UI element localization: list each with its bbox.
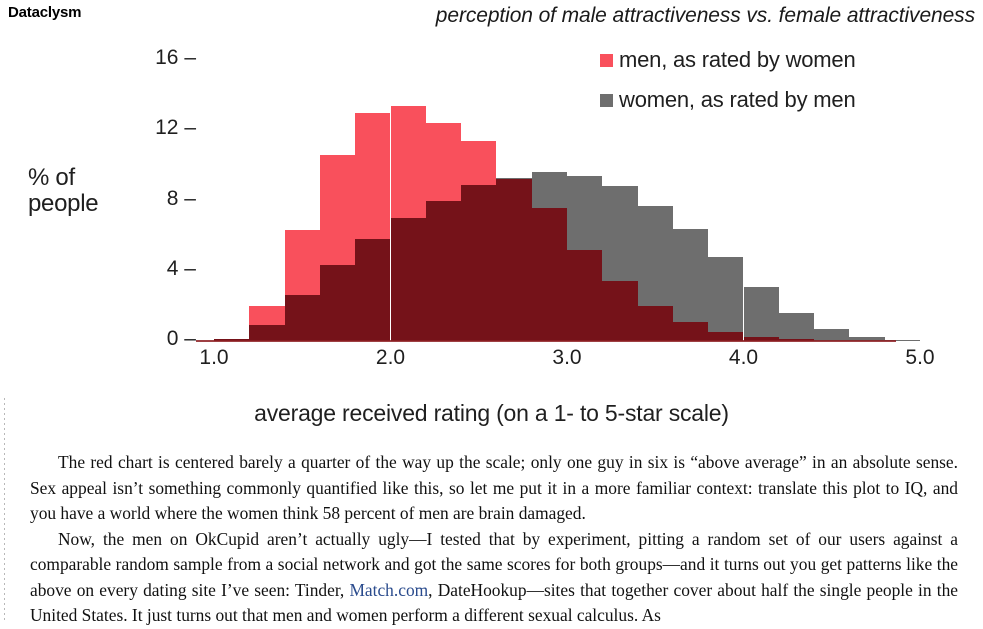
x-tick-label: 5.0	[905, 346, 934, 370]
bar-women-16	[779, 313, 814, 341]
bar-overlap-10	[567, 250, 602, 341]
bar-overlap-9	[532, 208, 567, 341]
chart-plot-area: % of people 0 –4 –8 –12 –16 – 1.02.03.04…	[0, 0, 983, 440]
paragraph-2: Now, the men on OkCupid aren’t actually …	[30, 527, 958, 629]
x-tick-label: 4.0	[729, 346, 758, 370]
chart-bars	[0, 0, 983, 440]
body-text: The red chart is centered barely a quart…	[30, 450, 958, 629]
x-tick-label: 3.0	[552, 346, 581, 370]
bar-overlap-8	[496, 179, 531, 341]
bar-women-15	[744, 287, 779, 341]
match-com-link[interactable]: Match.com	[349, 580, 428, 600]
bar-overlap-1	[249, 325, 284, 341]
bar-overlap-11	[602, 281, 637, 341]
bar-overlap-7	[461, 185, 496, 341]
bar-overlap-4	[355, 239, 390, 341]
bar-overlap-2	[285, 295, 320, 341]
paragraph-1: The red chart is centered barely a quart…	[30, 450, 958, 527]
bar-overlap-5	[391, 218, 426, 341]
bar-overlap-3	[320, 265, 355, 341]
bar-overlap-12	[638, 306, 673, 341]
bar-overlap-13	[673, 322, 708, 341]
x-tick-label: 1.0	[199, 346, 228, 370]
x-tick-label: 2.0	[376, 346, 405, 370]
x-axis-title: average received rating (on a 1- to 5-st…	[0, 400, 983, 427]
bar-women-14	[708, 257, 743, 341]
bar-overlap-6	[426, 201, 461, 342]
chart-baseline	[196, 340, 896, 342]
